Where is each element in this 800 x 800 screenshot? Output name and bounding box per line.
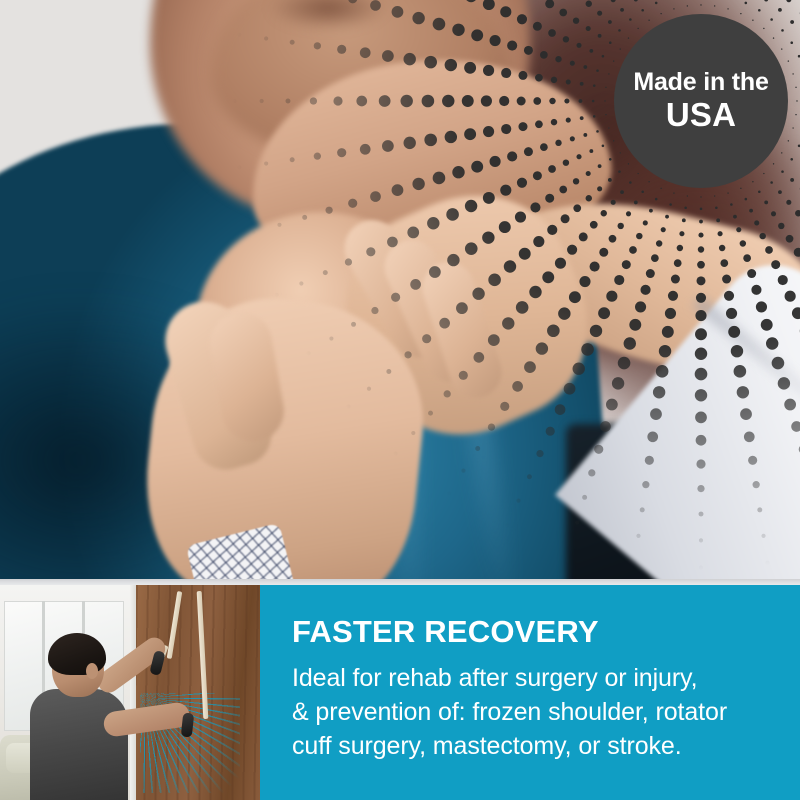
badge-line-1: Made in the	[633, 69, 768, 96]
promo-body-line: & prevention of: frozen shoulder, rotato…	[292, 695, 788, 729]
made-in-usa-badge: Made in the USA	[614, 14, 788, 188]
exerciser-ear	[86, 663, 98, 679]
product-feature-card: Made in the USA FASTER RECOVERY Ideal	[0, 0, 800, 800]
badge-line-2: USA	[666, 97, 736, 133]
promo-text-block: FASTER RECOVERY Ideal for rehab after su…	[292, 616, 788, 763]
promo-body-line: cuff surgery, mastectomy, or stroke.	[292, 729, 788, 763]
promo-headline: FASTER RECOVERY	[292, 616, 788, 647]
exerciser-torso	[30, 689, 128, 800]
promo-body: Ideal for rehab after surgery or injury,…	[292, 661, 788, 763]
promo-body-line: Ideal for rehab after surgery or injury,	[292, 661, 788, 695]
hero-photo: Made in the USA	[0, 0, 800, 579]
inset-photo-pulley-exercise	[0, 585, 260, 800]
